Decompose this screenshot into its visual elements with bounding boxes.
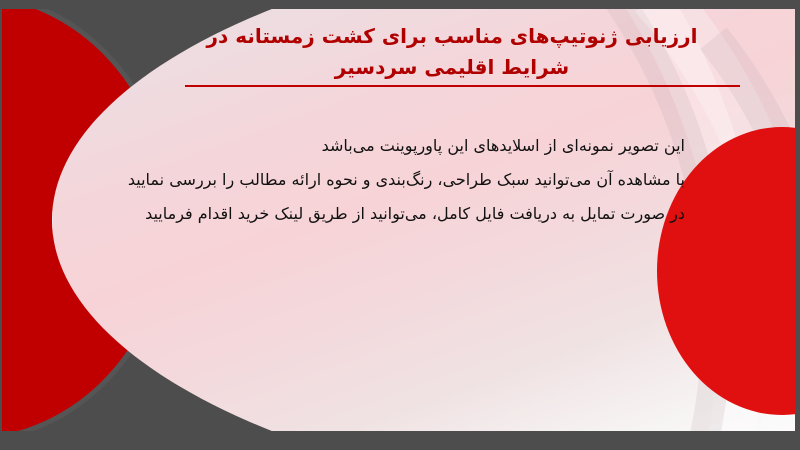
slide-title-line-1: ارزیابی ژنوتیپ‌های مناسب برای کشت زمستان…: [132, 21, 772, 52]
title-underline-rule: [185, 85, 740, 87]
frame-band-bottom: [0, 431, 800, 450]
body-text-line-2: با مشاهده آن می‌توانید سبک طراحی، رنگ‌بن…: [65, 163, 685, 197]
slide-title: ارزیابی ژنوتیپ‌های مناسب برای کشت زمستان…: [132, 21, 772, 83]
slide-body-text: این تصویر نمونه‌ای از اسلایدهای این پاور…: [65, 129, 685, 231]
slide-title-line-2: شرایط اقلیمی سردسیر: [132, 52, 772, 83]
body-text-line-3: در صورت تمایل به دریافت فایل کامل، می‌تو…: [65, 197, 685, 231]
slide-content-panel: ارزیابی ژنوتیپ‌های مناسب برای کشت زمستان…: [52, 9, 795, 432]
frame-band-left: [0, 0, 2, 450]
body-text-line-1: این تصویر نمونه‌ای از اسلایدهای این پاور…: [65, 129, 685, 163]
frame-band-right: [795, 0, 800, 450]
frame-band-top: [0, 0, 800, 9]
presentation-slide: ارزیابی ژنوتیپ‌های مناسب برای کشت زمستان…: [0, 0, 800, 450]
